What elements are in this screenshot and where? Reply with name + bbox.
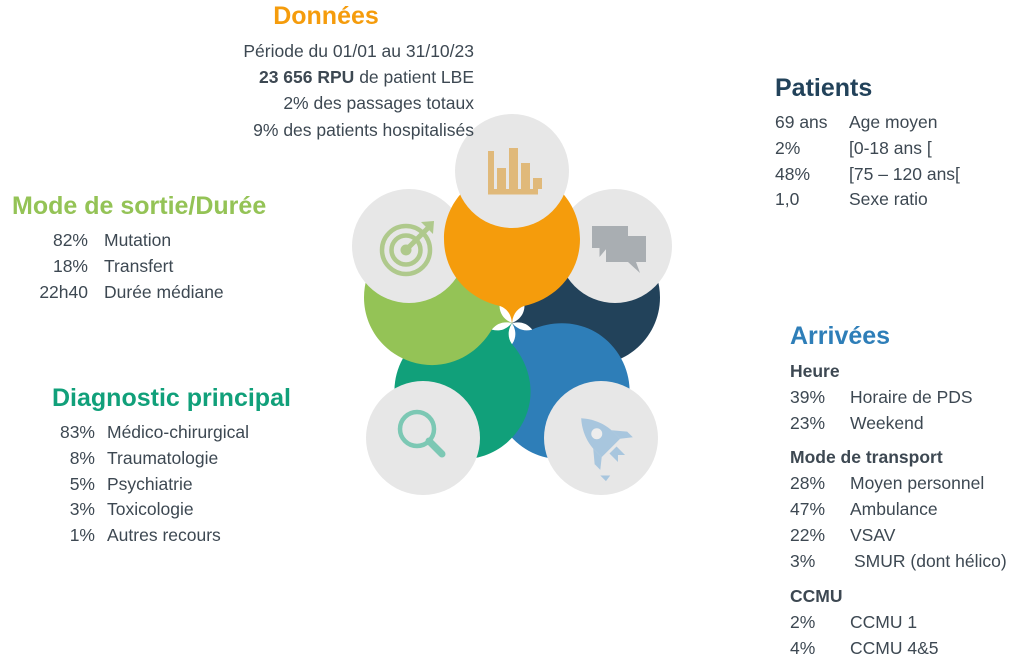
row-value: 3% [52, 497, 95, 523]
row-label: Horaire de PDS [842, 385, 973, 411]
table-row: 82% Mutation [12, 228, 266, 254]
table-row: 18% Transfert [12, 254, 266, 280]
row-value: 22h40 [12, 280, 88, 306]
table-row: 4% CCMU 4&5 [790, 636, 1007, 656]
table-row: 1,0 Sexe ratio [775, 187, 960, 213]
row-value: 28% [790, 471, 842, 497]
row-label: Age moyen [841, 110, 938, 136]
patients-rows: 69 ans Age moyen 2% [0-18 ans [ 48% [75 … [775, 110, 960, 214]
row-value: 1,0 [775, 187, 841, 213]
arrivees-group-ccmu: CCMU 2% CCMU 1 4% CCMU 4&5 [790, 584, 1007, 656]
group-heading: CCMU [790, 584, 1007, 610]
table-row: 5% Psychiatrie [52, 472, 291, 498]
row-label: Mutation [88, 228, 171, 254]
row-value: 22% [790, 523, 842, 549]
row-value: 8% [52, 446, 95, 472]
table-row: 8% Traumatologie [52, 446, 291, 472]
table-row: 22h40 Durée médiane [12, 280, 266, 306]
row-value: 23% [790, 411, 842, 437]
row-label: Durée médiane [88, 280, 224, 306]
row-label: CCMU 4&5 [842, 636, 939, 656]
row-value: 69 ans [775, 110, 841, 136]
row-label: Psychiatrie [95, 472, 193, 498]
arrivees-group-heure: Heure 39% Horaire de PDS 23% Weekend [790, 359, 1007, 437]
infographic-canvas: Données Période du 01/01 au 31/10/23 23 … [0, 0, 1024, 656]
table-row: 22% VSAV [790, 523, 1007, 549]
row-value: 3% [790, 549, 842, 575]
row-label: SMUR (dont hélico) [842, 549, 1007, 575]
donnees-lines: Période du 01/01 au 31/10/23 23 656 RPU … [178, 38, 474, 143]
table-row: 47% Ambulance [790, 497, 1007, 523]
patients-title: Patients [775, 74, 960, 103]
row-label: [75 – 120 ans[ [841, 162, 960, 188]
donnees-line-passages: 2% des passages totaux [178, 90, 474, 116]
table-row: 1% Autres recours [52, 523, 291, 549]
row-label: [0-18 ans [ [841, 136, 932, 162]
arrivees-title: Arrivées [790, 322, 1007, 351]
table-row: 2% [0-18 ans [ [775, 136, 960, 162]
row-label: VSAV [842, 523, 895, 549]
row-label: Sexe ratio [841, 187, 928, 213]
row-label: Moyen personnel [842, 471, 984, 497]
row-label: Transfert [88, 254, 173, 280]
row-label: Médico-chirurgical [95, 420, 249, 446]
row-value: 39% [790, 385, 842, 411]
table-row: 39% Horaire de PDS [790, 385, 1007, 411]
row-value: 1% [52, 523, 95, 549]
row-value: 47% [790, 497, 842, 523]
group-heading: Heure [790, 359, 1007, 385]
mode-de-sortie-rows: 82% Mutation 18% Transfert 22h40 Durée m… [12, 228, 266, 306]
row-value: 2% [775, 136, 841, 162]
donnees-line-period: Période du 01/01 au 31/10/23 [178, 38, 474, 64]
mode-de-sortie-title: Mode de sortie/Durée [12, 192, 266, 221]
table-row: 48% [75 – 120 ans[ [775, 162, 960, 188]
donnees-line-hospitalises: 9% des patients hospitalisés [178, 117, 474, 143]
donnees-line-rpu: 23 656 RPU de patient LBE [178, 64, 474, 90]
table-row: 69 ans Age moyen [775, 110, 960, 136]
row-label: Toxicologie [95, 497, 194, 523]
row-label: Weekend [842, 411, 924, 437]
arrivees-block: Arrivées Heure 39% Horaire de PDS 23% We… [790, 322, 1007, 656]
row-value: 83% [52, 420, 95, 446]
row-value: 82% [12, 228, 88, 254]
diagnostic-block: Diagnostic principal 83% Médico-chirurgi… [52, 384, 291, 549]
row-value: 48% [775, 162, 841, 188]
row-value: 5% [52, 472, 95, 498]
row-label: Ambulance [842, 497, 938, 523]
table-row: 3% SMUR (dont hélico) [790, 549, 1007, 575]
patients-block: Patients 69 ans Age moyen 2% [0-18 ans [… [775, 74, 960, 213]
table-row: 23% Weekend [790, 411, 1007, 437]
row-label: Autres recours [95, 523, 221, 549]
donnees-block: Données Période du 01/01 au 31/10/23 23 … [178, 2, 508, 143]
diagnostic-rows: 83% Médico-chirurgical 8% Traumatologie … [52, 420, 291, 549]
table-row: 2% CCMU 1 [790, 610, 1007, 636]
arrivees-group-transport: Mode de transport 28% Moyen personnel 47… [790, 445, 1007, 574]
row-label: CCMU 1 [842, 610, 917, 636]
table-row: 83% Médico-chirurgical [52, 420, 291, 446]
donnees-title: Données [178, 2, 474, 31]
row-value: 4% [790, 636, 842, 656]
mode-de-sortie-block: Mode de sortie/Durée 82% Mutation 18% Tr… [12, 192, 266, 305]
row-value: 18% [12, 254, 88, 280]
diagnostic-title: Diagnostic principal [52, 384, 291, 413]
row-value: 2% [790, 610, 842, 636]
table-row: 28% Moyen personnel [790, 471, 1007, 497]
table-row: 3% Toxicologie [52, 497, 291, 523]
row-label: Traumatologie [95, 446, 218, 472]
group-heading: Mode de transport [790, 445, 1007, 471]
